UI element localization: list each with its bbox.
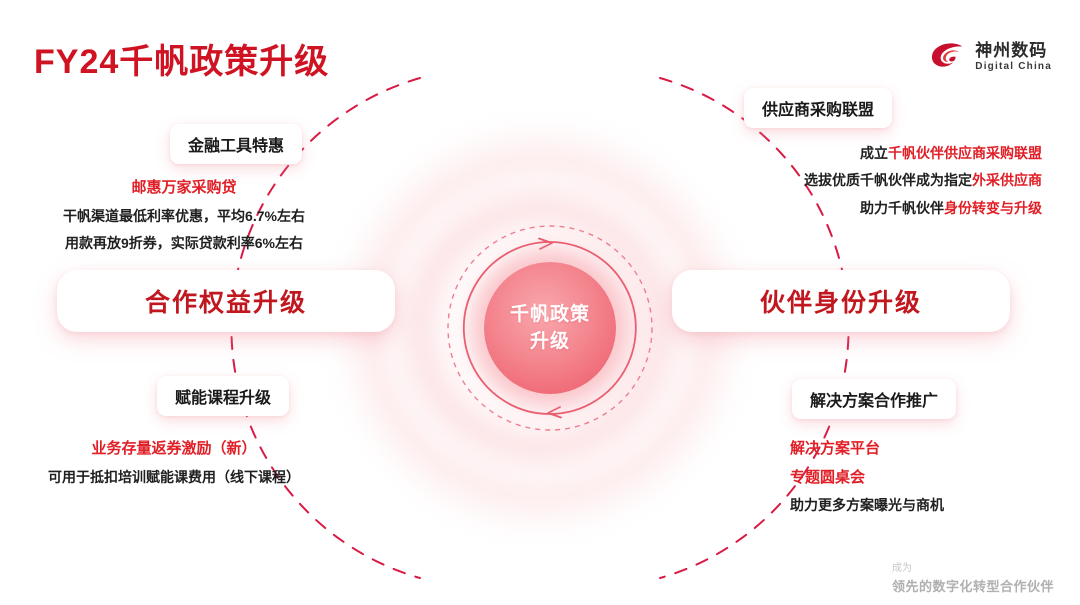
footer-slogan: 成为 领先的数字化转型合作伙伴: [892, 562, 1054, 595]
left-top-line-2: 用款再放9折券，实际贷款利率6%左右: [26, 230, 342, 257]
footer-slogan-main: 领先的数字化转型合作伙伴: [892, 576, 1054, 595]
left-bottom-line-1: 可用于抵扣培训赋能课费用（线下课程）: [18, 464, 330, 491]
left-top-highlight: 邮惠万家采购贷: [26, 174, 342, 203]
right-top-line-1: 成立千帆伙伴供应商采购联盟: [804, 140, 1042, 167]
left-top-line-1: 干帆渠道最低利率优惠，平均6.7%左右: [26, 203, 342, 230]
right-top-line-3-prefix: 助力千帆伙伴: [860, 200, 944, 216]
right-top-line-3: 助力千帆伙伴身份转变与升级: [804, 195, 1042, 222]
center-hub: 千帆政策 升级: [440, 218, 660, 438]
right-top-line-1-prefix: 成立: [860, 145, 888, 161]
right-top-line-1-red: 千帆伙伴供应商采购联盟: [888, 145, 1042, 161]
left-top-detail: 邮惠万家采购贷 干帆渠道最低利率优惠，平均6.7%左右 用款再放9折券，实际贷款…: [26, 174, 342, 257]
right-bottom-highlight-2: 专题圆桌会: [790, 464, 944, 493]
right-bottom-line-1: 助力更多方案曝光与商机: [790, 492, 944, 519]
brand-logo: 神州数码 Digital China: [929, 40, 1052, 74]
right-bottom-detail: 解决方案平台 专题圆桌会 助力更多方案曝光与商机: [790, 435, 944, 519]
center-title-line2: 升级: [530, 332, 570, 351]
page-title: FY24千帆政策升级: [34, 34, 329, 83]
footer-slogan-small: 成为: [892, 562, 1054, 576]
left-bottom-detail: 业务存量返券激励（新） 可用于抵扣培训赋能课费用（线下课程）: [18, 435, 330, 491]
badge-training-upgrade[interactable]: 赋能课程升级: [157, 376, 289, 416]
right-bottom-highlight-1: 解决方案平台: [790, 435, 944, 464]
right-top-line-2-red: 外采供应商: [972, 172, 1042, 188]
right-top-detail: 成立千帆伙伴供应商采购联盟 选拔优质千帆伙伴成为指定外采供应商 助力千帆伙伴身份…: [804, 140, 1042, 222]
badge-solution-promotion[interactable]: 解决方案合作推广: [792, 379, 956, 419]
center-title-line1: 千帆政策: [510, 305, 590, 324]
slide-canvas: FY24千帆政策升级 神州数码 Digital China 千帆政策 升级: [0, 0, 1080, 605]
right-top-line-3-red: 身份转变与升级: [944, 200, 1042, 216]
center-core-circle: 千帆政策 升级: [484, 262, 616, 394]
logo-text-en: Digital China: [975, 61, 1052, 73]
badge-financial-tools[interactable]: 金融工具特惠: [170, 124, 302, 164]
main-card-partner-identity[interactable]: 伙伴身份升级: [672, 270, 1010, 332]
swirl-logo-icon: [929, 40, 967, 74]
main-card-partner-identity-label: 伙伴身份升级: [760, 283, 922, 319]
left-bottom-highlight: 业务存量返券激励（新）: [18, 435, 330, 464]
logo-text-cn: 神州数码: [975, 41, 1052, 61]
main-card-partner-benefits-label: 合作权益升级: [145, 283, 307, 319]
badge-supplier-alliance[interactable]: 供应商采购联盟: [744, 88, 892, 128]
main-card-partner-benefits[interactable]: 合作权益升级: [57, 270, 395, 332]
right-top-line-2-prefix: 选拔优质千帆伙伴成为指定: [804, 172, 972, 188]
right-top-line-2: 选拔优质千帆伙伴成为指定外采供应商: [804, 167, 1042, 194]
